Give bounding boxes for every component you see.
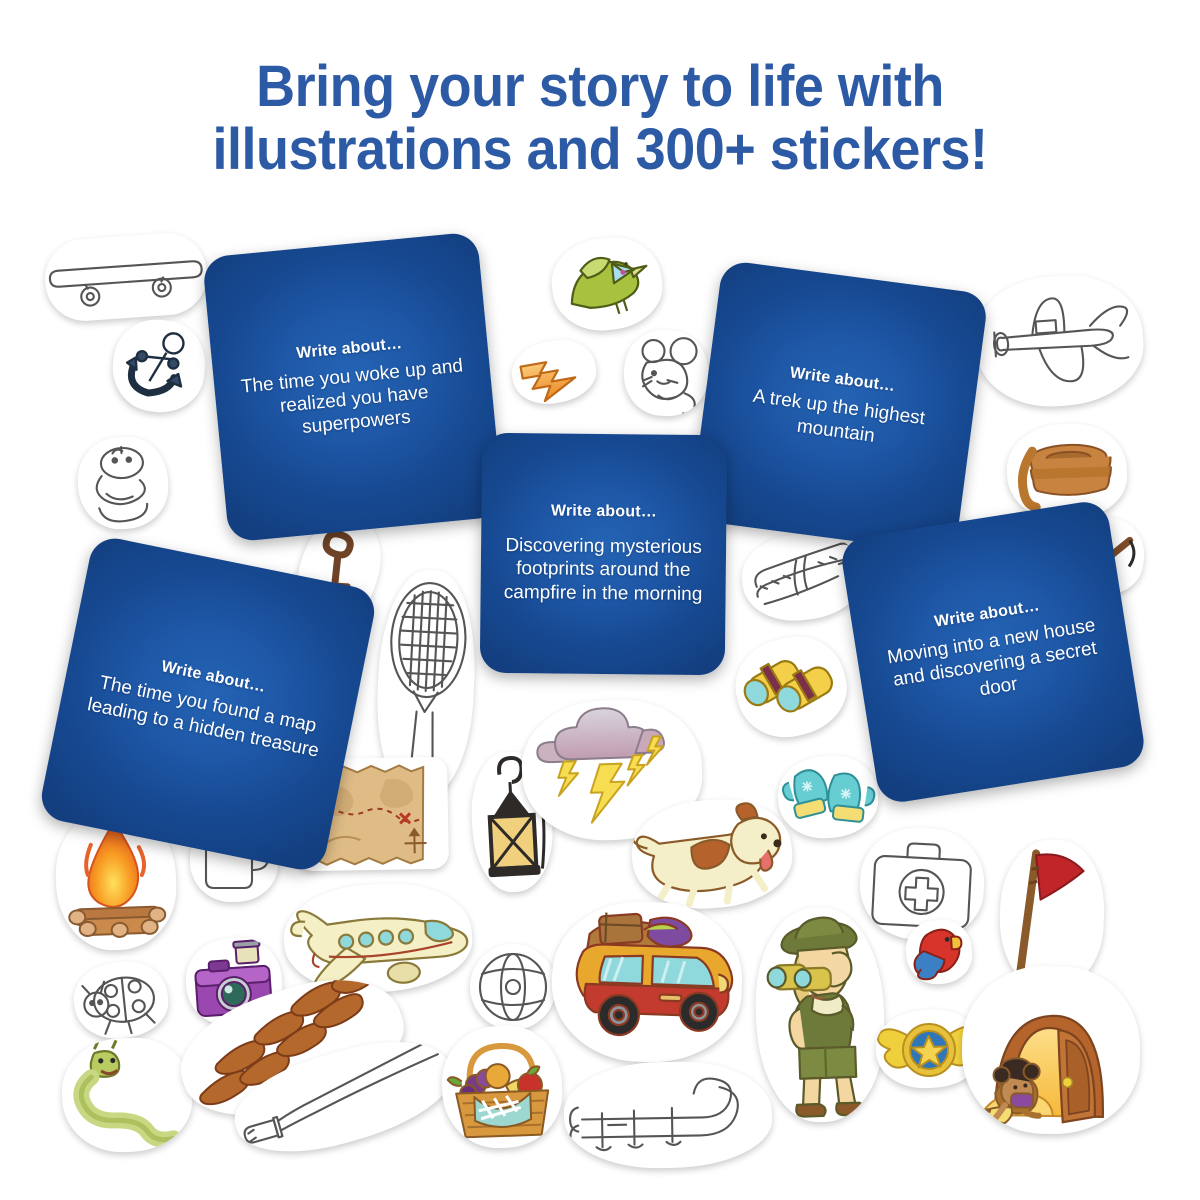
card-prompt-text: The time you woke up and realized you ha… [229,353,479,446]
picnic-basket-sticker [440,1024,564,1150]
beach-ball-sticker [470,944,556,1030]
headline-line-2: illustrations and 300+ stickers! [42,119,1158,182]
mittens-sticker [775,753,880,842]
mouse-sticker [621,327,711,419]
ladybug-sticker [70,957,171,1042]
lightning-bolt-sticker [507,334,600,410]
card-kicker: Write about… [296,335,403,363]
skateboard-sticker [42,230,209,323]
headline-line-1: Bring your story to life with [256,54,944,119]
open-door-sticker [961,964,1142,1135]
card-prompt-text: Moving into a new house and discovering … [872,611,1118,717]
card-kicker: Write about… [551,503,657,522]
binoculars-sticker [726,626,856,748]
card-prompt-text: Discovering mysterious footprints around… [496,534,710,606]
anchor-sticker [108,315,209,416]
card-prompt-text: A trek up the highest mountain [717,381,957,458]
prompt-card-footprints[interactable]: Write about… Discovering mysterious foot… [480,433,727,676]
page-headline: Bring your story to life with illustrati… [42,56,1158,181]
prompt-card-superpowers[interactable]: Write about… The time you woke up and re… [202,231,504,542]
parrot-sticker [904,918,974,986]
sled-sticker [563,1060,773,1170]
prompt-card-secretdoor[interactable]: Write about… Moving into a new house and… [839,499,1148,806]
snake-coiled-sticker [76,435,171,532]
prompt-card-treasure[interactable]: Write about… The time you found a map le… [37,534,379,874]
loaded-car-sticker [549,899,744,1066]
snake-green-sticker [60,1036,194,1154]
propeller-plane-sticker [971,270,1148,411]
explorer-kid-sticker [752,906,887,1124]
jet-plane-sticker [281,879,474,997]
bird-with-letter-sticker [547,233,666,336]
prompt-card-trek[interactable]: Write about… A trek up the highest mount… [689,260,989,555]
